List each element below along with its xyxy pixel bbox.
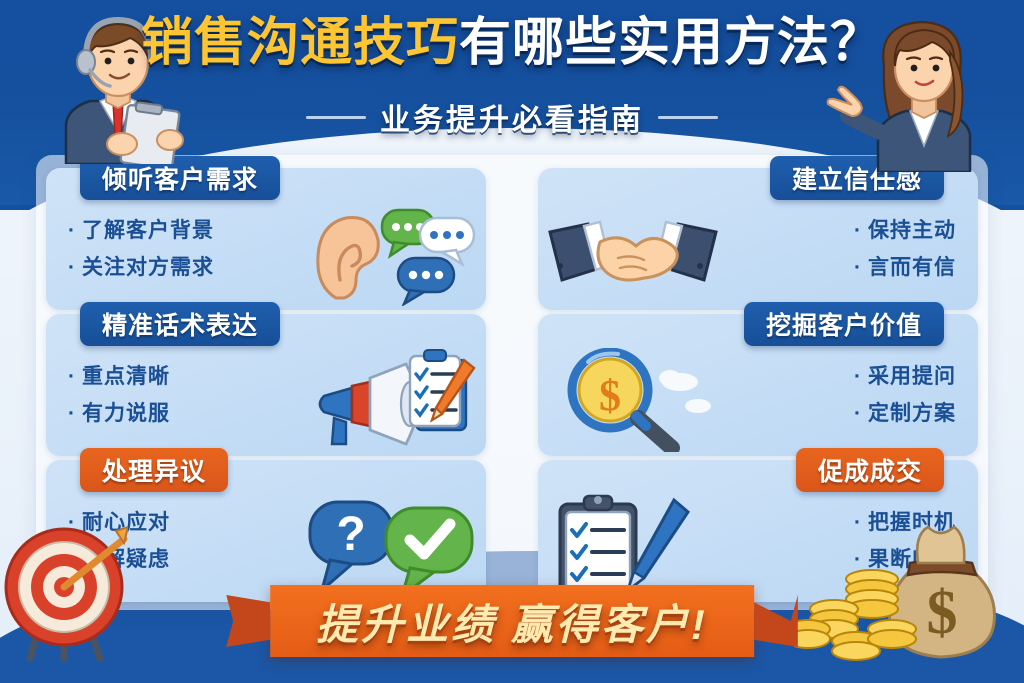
card-bullet-text: 言而有信	[868, 256, 956, 279]
card-bullet-item: ·关注对方需求	[68, 251, 214, 281]
magnifier-with-coin-icon: $	[548, 348, 718, 452]
card-title: 挖掘客户价值	[744, 302, 944, 346]
svg-text:$: $	[599, 371, 621, 420]
card-bullet-item: ·了解客户背景	[68, 214, 214, 244]
card-bullet-item: ·定制方案	[854, 397, 956, 427]
bullet-dot-icon: ·	[854, 219, 862, 242]
bullet-dot-icon: ·	[68, 402, 76, 425]
tip-card[interactable]: 精准话术表达 ·重点清晰·有力说服	[46, 314, 486, 456]
salesman-with-headset-illustration	[38, 4, 198, 164]
card-bullet-item: ·保持主动	[854, 214, 956, 244]
bullet-dot-icon: ·	[68, 365, 76, 388]
svg-text:$: $	[927, 579, 958, 647]
card-bullet-text: 重点清晰	[82, 365, 170, 388]
card-bullet-item: ·重点清晰	[68, 360, 170, 390]
question-and-check-bubbles-icon: ?	[306, 494, 476, 598]
saleswoman-presenting-illustration	[826, 4, 998, 172]
card-bullet-item: ·言而有信	[854, 251, 956, 281]
card-title: 处理异议	[80, 448, 228, 492]
card-bullet-text: 有力说服	[82, 402, 170, 425]
card-bullet-text: 采用提问	[868, 365, 956, 388]
banner-text: 提升业绩 赢得客户!	[316, 591, 708, 652]
clipboard-and-pen-icon	[548, 494, 718, 598]
bullet-dot-icon: ·	[68, 256, 76, 279]
ear-and-speech-bubbles-icon	[306, 202, 476, 306]
card-bullet-list: ·重点清晰·有力说服	[68, 360, 170, 427]
card-title: 促成成交	[796, 448, 944, 492]
svg-text:?: ?	[336, 508, 365, 561]
card-bullet-list: ·保持主动·言而有信	[854, 214, 956, 281]
card-title: 精准话术表达	[80, 302, 280, 346]
tip-card[interactable]: 倾听客户需求 ·了解客户背景·关	[46, 168, 486, 310]
megaphone-and-checklist-icon	[306, 348, 476, 452]
card-bullet-list: ·了解客户背景·关注对方需求	[68, 214, 214, 281]
tip-card[interactable]: 挖掘客户价值 $ ·采用提问·定制方案	[538, 314, 978, 456]
card-bullet-text: 关注对方需求	[82, 256, 214, 279]
infographic-poster: 销售沟通技巧有哪些实用方法？ 业务提升必看指南 倾听客户需求	[0, 0, 1024, 683]
card-bullet-text: 保持主动	[868, 219, 956, 242]
bullet-dot-icon: ·	[854, 365, 862, 388]
ribbon-body: 提升业绩 赢得客户!	[270, 585, 754, 657]
bullet-dot-icon: ·	[854, 402, 862, 425]
ribbon-tail-left	[226, 595, 270, 647]
card-bullet-list: ·采用提问·定制方案	[854, 360, 956, 427]
card-bullet-text: 了解客户背景	[82, 219, 214, 242]
tip-card[interactable]: 建立信任感 ·保持主动·言而有信	[538, 168, 978, 310]
bullet-dot-icon: ·	[854, 256, 862, 279]
bottom-banner: 提升业绩 赢得客户!	[226, 585, 798, 657]
card-bullet-item: ·有力说服	[68, 397, 170, 427]
bullet-dot-icon: ·	[68, 219, 76, 242]
handshake-icon	[548, 202, 718, 306]
card-bullet-text: 定制方案	[868, 402, 956, 425]
money-bag-and-coins-icon: $	[794, 517, 1014, 667]
card-bullet-item: ·采用提问	[854, 360, 956, 390]
ribbon-tail-right	[754, 595, 798, 647]
target-dartboard-with-arrow-icon	[4, 521, 128, 661]
